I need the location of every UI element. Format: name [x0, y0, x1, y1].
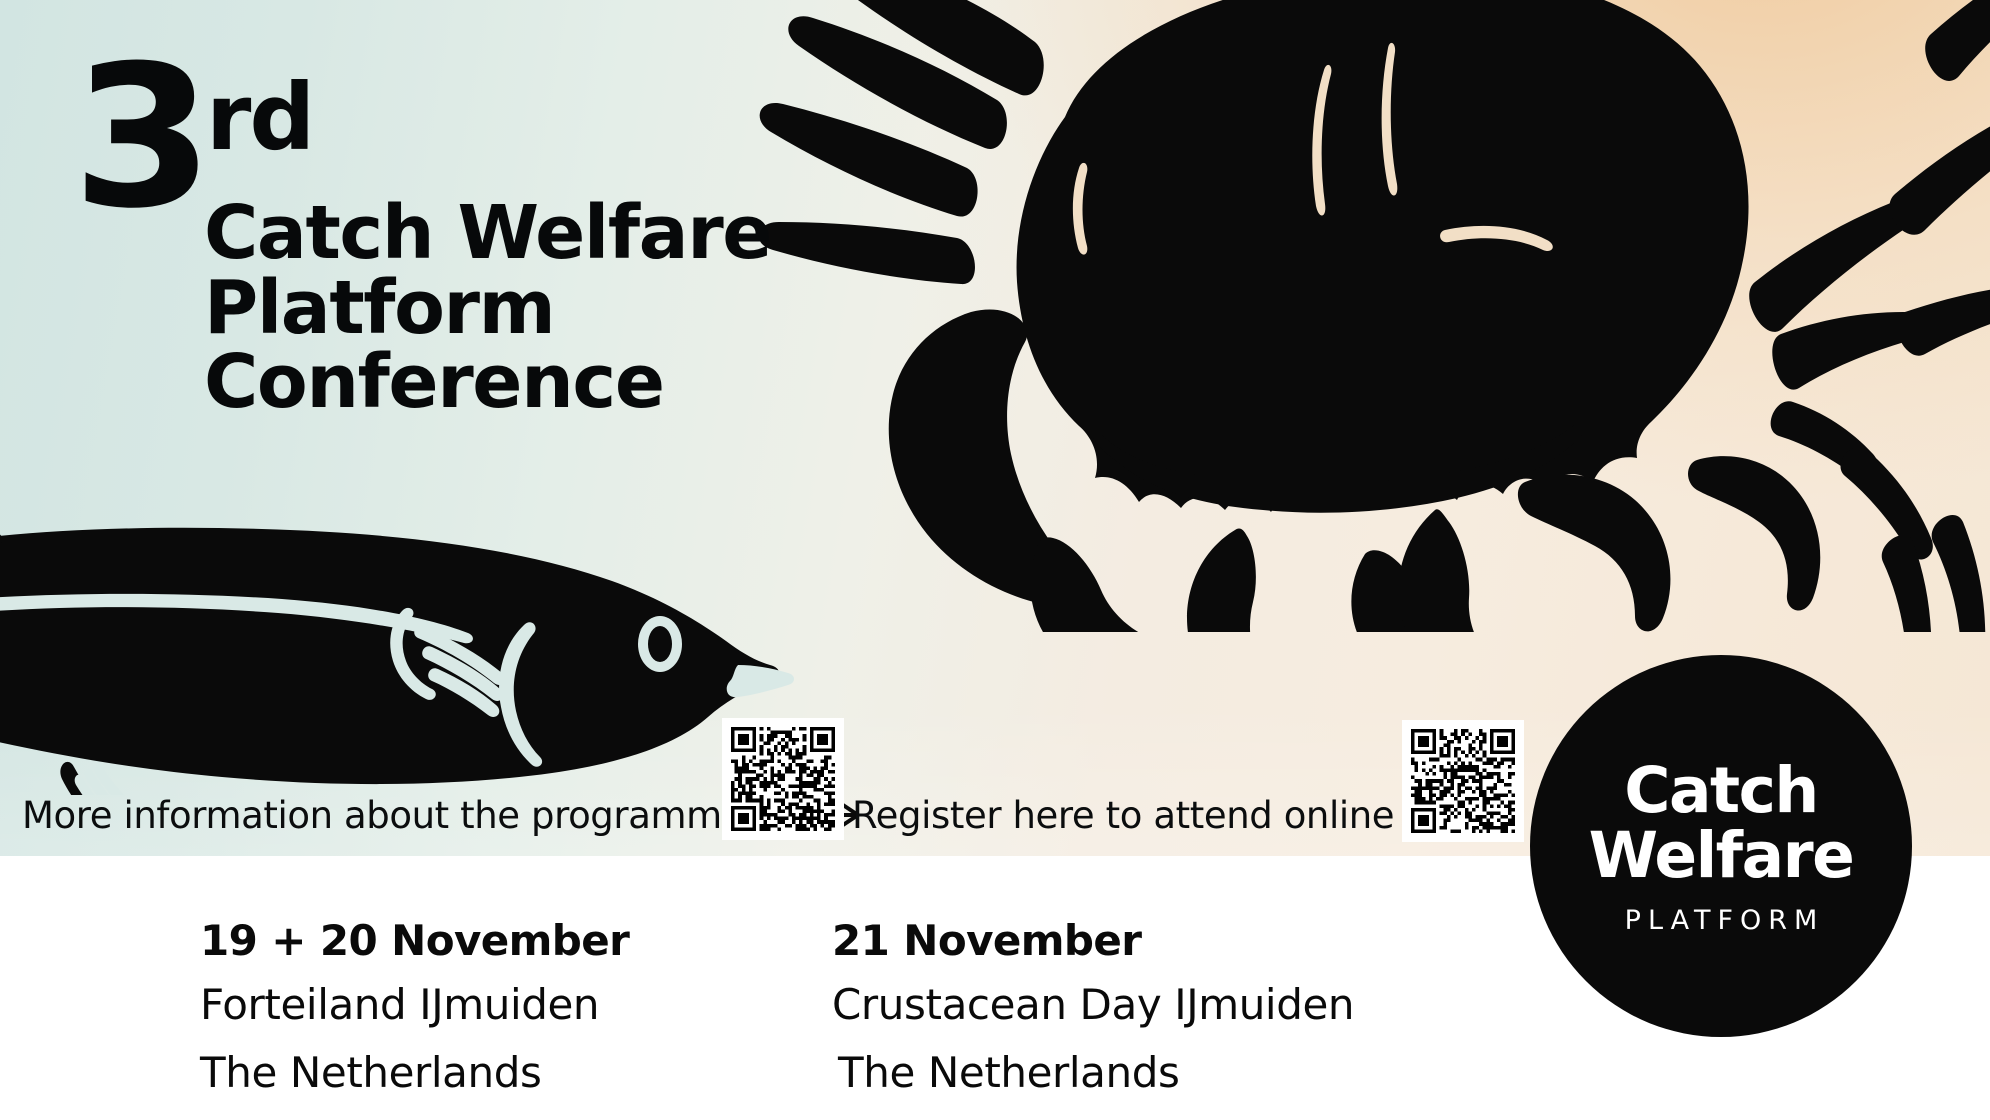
event-info-day1: 19 + 20 November Forteiland IJmuiden The… [200, 920, 629, 1094]
cta-programme-label: More information about the programme [22, 794, 744, 837]
title-ordinal-row: 3 rd [72, 46, 832, 214]
title-ordinal-suffix: rd [206, 72, 313, 164]
event-venue: Forteiland IJmuiden [200, 984, 629, 1026]
event-date: 19 + 20 November [200, 920, 629, 962]
title-line-2: Platform [204, 271, 771, 346]
qr-code-register[interactable] [1402, 720, 1524, 842]
crab-silhouette-icon [735, 0, 1990, 632]
title-line-1: Catch Welfare [204, 196, 771, 271]
logo-line-platform: PLATFORM [1618, 907, 1825, 934]
event-country: The Netherlands [832, 1052, 1354, 1094]
event-country: The Netherlands [200, 1052, 629, 1094]
conference-poster: 3 rd Catch Welfare Platform Conference M… [0, 0, 1990, 1120]
poster-title: 3 rd Catch Welfare Platform Conference [72, 46, 832, 214]
catch-welfare-platform-logo[interactable]: Catch Welfare PLATFORM [1530, 655, 1912, 1037]
logo-line-catch: Catch [1624, 759, 1818, 822]
qr-code-programme[interactable] [722, 718, 844, 840]
event-info-day2: 21 November Crustacean Day IJmuiden The … [832, 920, 1354, 1094]
title-numeral: 3 [72, 40, 208, 236]
event-date: 21 November [832, 920, 1354, 962]
title-lines: Catch Welfare Platform Conference [204, 196, 771, 420]
fish-silhouette-icon [0, 505, 812, 795]
logo-line-welfare: Welfare [1589, 824, 1854, 887]
cta-register-label: Register here to attend online [852, 794, 1394, 837]
title-line-3: Conference [204, 345, 771, 420]
event-venue: Crustacean Day IJmuiden [832, 984, 1354, 1026]
